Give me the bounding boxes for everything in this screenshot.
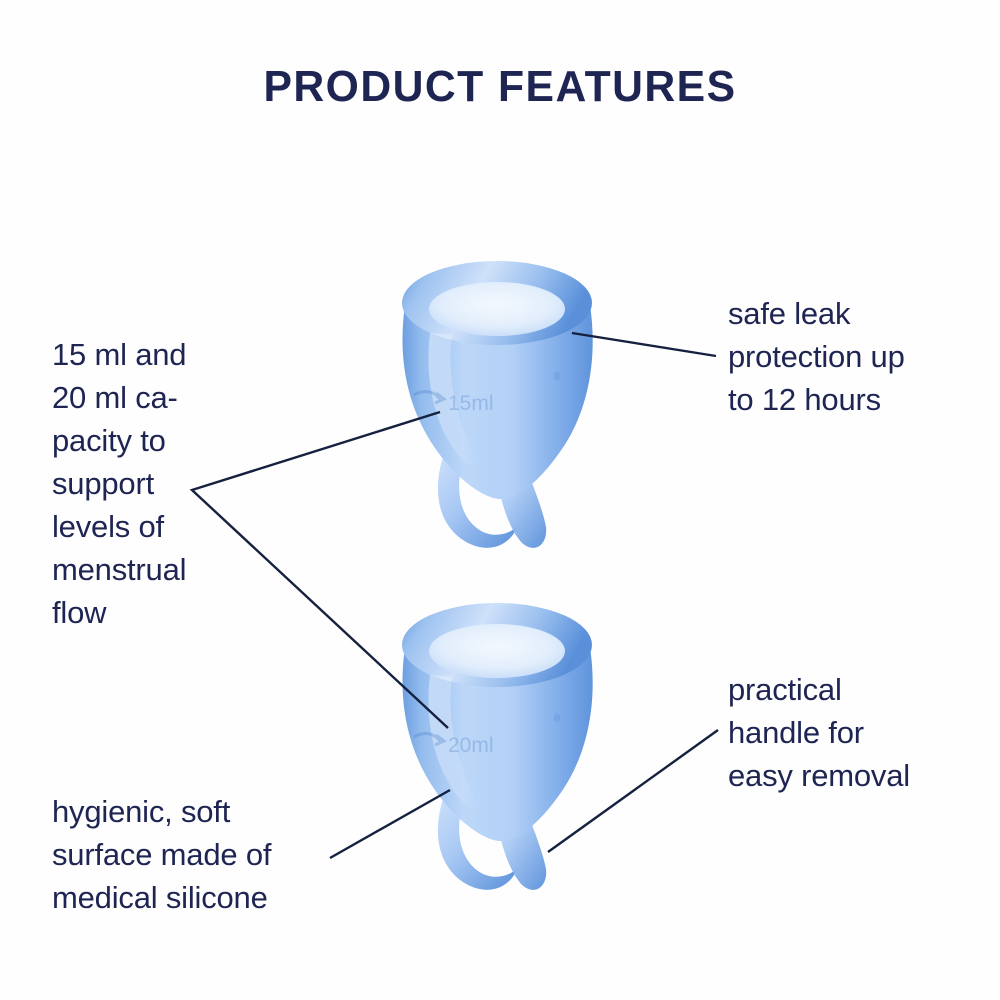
cup-15ml-interior <box>429 282 565 336</box>
cup-20ml-surface-speck <box>554 713 561 722</box>
product-image-cup-15ml: 15ml <box>372 243 622 563</box>
cup-15ml-surface-speck <box>554 371 561 380</box>
product-features-infographic: PRODUCT FEATURES <box>0 0 1000 1000</box>
feature-caption-leak-protection: safe leak protection up to 12 hours <box>728 292 988 421</box>
cup-20ml-graphic: 20ml <box>372 585 622 905</box>
cup-20ml-interior <box>429 624 565 678</box>
feature-caption-handle: practical handle for easy removal <box>728 668 980 797</box>
cup-15ml-graphic: 15ml <box>372 243 622 563</box>
product-image-cup-20ml: 20ml <box>372 585 622 905</box>
cup-20ml-capacity-text: 20ml <box>448 734 494 757</box>
feature-caption-capacity: 15 ml and 20 ml ca- pacity to support le… <box>52 333 292 634</box>
feature-caption-silicone: hygienic, soft surface made of medical s… <box>52 790 352 919</box>
cup-15ml-capacity-text: 15ml <box>448 392 494 415</box>
page-title: PRODUCT FEATURES <box>15 62 985 112</box>
